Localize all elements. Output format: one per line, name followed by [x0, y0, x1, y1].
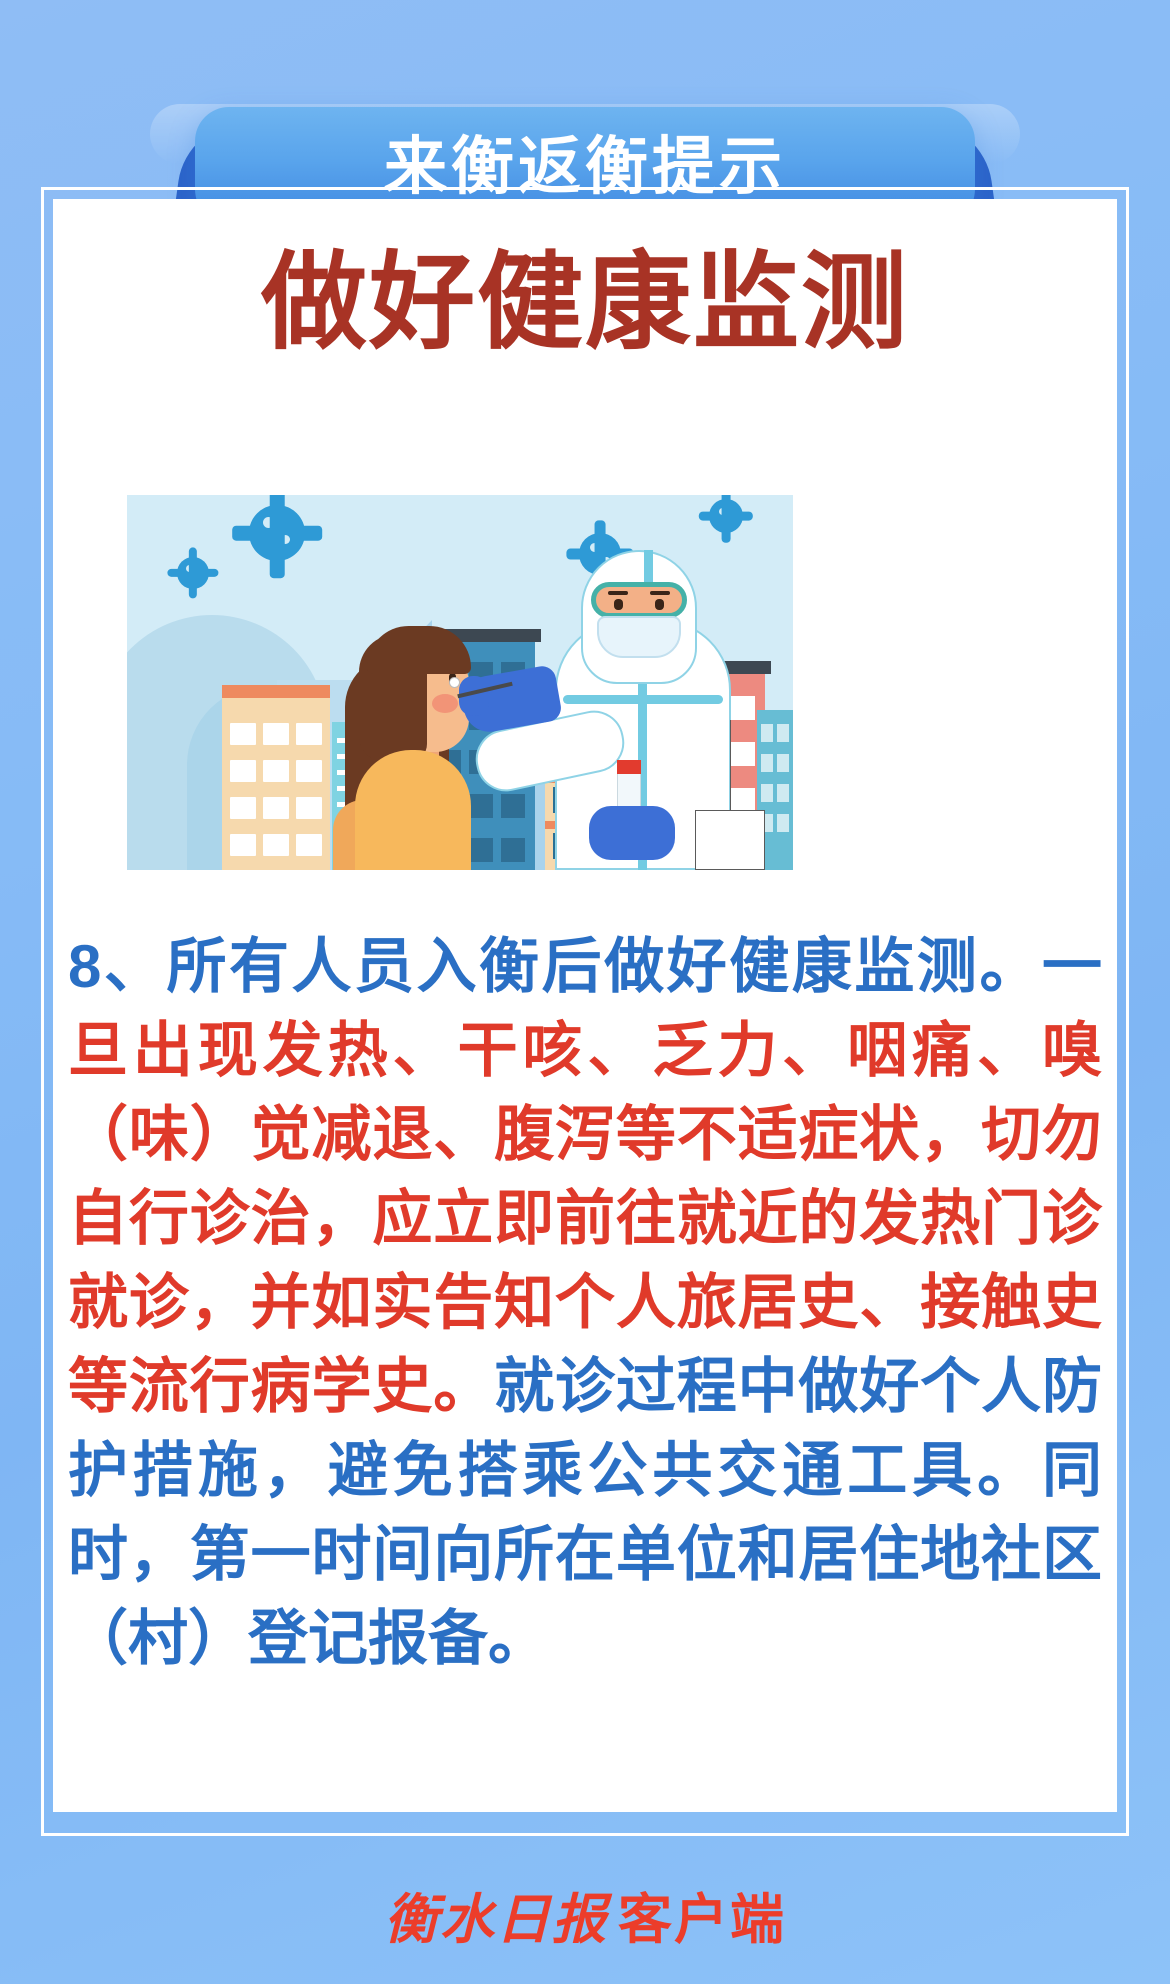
footer-brand: 衡水日报 — [384, 1890, 618, 1950]
worker-ppe-collar — [563, 695, 723, 704]
worker-coat-line — [730, 720, 731, 812]
notice-body: 8、所有人员入衡后做好健康监测。一旦出现发热、干咳、乏力、咽痛、嗅（味）觉减退、… — [68, 925, 1102, 1681]
virus-icon — [249, 505, 305, 561]
footer-branding: 衡水日报客户端 — [0, 1875, 1170, 1954]
sample-tube-cap — [617, 760, 641, 774]
woman-cheek — [432, 694, 458, 713]
worker-face-mask-icon — [597, 616, 681, 658]
worker-goggles-icon — [591, 582, 687, 618]
nucleic-acid-test-illustration — [127, 495, 793, 870]
notice-segment-1: 8、所有人员入衡后做好健康监测。一 — [68, 933, 1102, 1000]
worker-glove-left — [589, 806, 675, 860]
swab-tip-icon — [449, 677, 460, 688]
page-title: 做好健康监测 — [0, 245, 1170, 362]
woman-body — [355, 750, 471, 870]
virus-icon — [709, 499, 743, 533]
virus-icon — [177, 557, 209, 589]
footer-app: 客户端 — [618, 1890, 786, 1950]
ribbon-glow — [150, 104, 1020, 164]
building-orange-left — [222, 685, 330, 870]
worker-clipboard — [695, 810, 765, 870]
